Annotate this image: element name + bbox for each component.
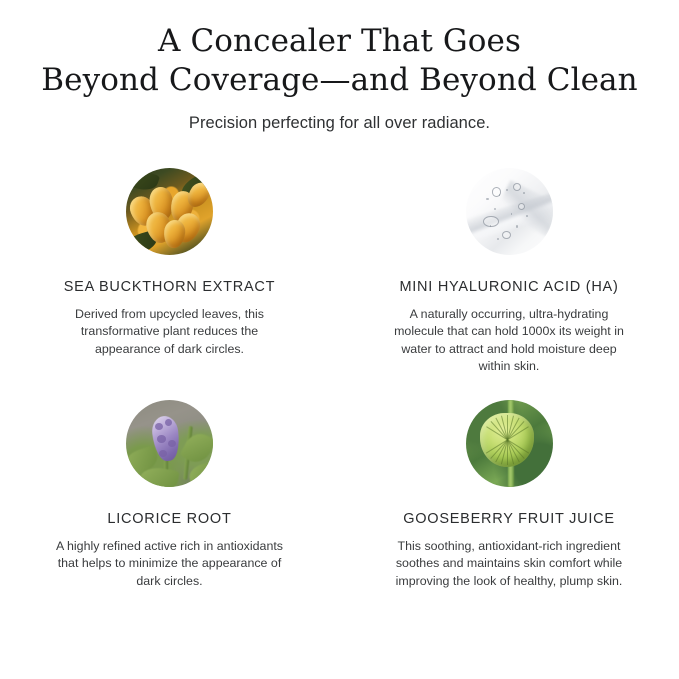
licorice-root-image: [126, 400, 213, 487]
gooseberry-husk: [480, 413, 534, 467]
ingredient-grid: SEA BUCKTHORN EXTRACT Derived from upcyc…: [0, 168, 679, 590]
page-title: A Concealer That Goes Beyond Coverage—an…: [0, 22, 679, 100]
ingredient-description: Derived from upcycled leaves, this trans…: [56, 306, 284, 358]
ingredient-card-gooseberry: GOOSEBERRY FRUIT JUICE This soothing, an…: [339, 400, 679, 590]
ingredient-card-hyaluronic-acid: MINI HYALURONIC ACID (HA) A naturally oc…: [339, 168, 679, 400]
ingredient-title: LICORICE ROOT: [14, 510, 325, 528]
headline-line-1: A Concealer That Goes: [18, 22, 661, 61]
ingredient-description: A highly refined active rich in antioxid…: [56, 538, 284, 590]
ingredient-title: SEA BUCKTHORN EXTRACT: [14, 278, 325, 296]
headline-line-2: Beyond Coverage—and Beyond Clean: [18, 61, 661, 100]
sea-buckthorn-image: [126, 168, 213, 255]
ingredient-card-licorice-root: LICORICE ROOT A highly refined active ri…: [0, 400, 339, 590]
ingredient-image-wrap: [14, 400, 325, 494]
ingredient-image-wrap: [353, 168, 665, 262]
ingredient-title: MINI HYALURONIC ACID (HA): [353, 278, 665, 296]
ingredient-benefits-panel: A Concealer That Goes Beyond Coverage—an…: [0, 0, 679, 679]
ingredient-description: This soothing, antioxidant-rich ingredie…: [384, 538, 634, 590]
ingredient-title: GOOSEBERRY FRUIT JUICE: [353, 510, 665, 528]
gooseberry-image: [466, 400, 553, 487]
ingredient-description: A naturally occurring, ultra-hydrating m…: [384, 306, 634, 376]
ingredient-card-sea-buckthorn: SEA BUCKTHORN EXTRACT Derived from upcyc…: [0, 168, 339, 400]
ingredient-image-wrap: [353, 400, 665, 494]
hyaluronic-acid-image: [466, 168, 553, 255]
header: A Concealer That Goes Beyond Coverage—an…: [0, 0, 679, 133]
ingredient-image-wrap: [14, 168, 325, 262]
page-subtitle: Precision perfecting for all over radian…: [0, 113, 679, 133]
